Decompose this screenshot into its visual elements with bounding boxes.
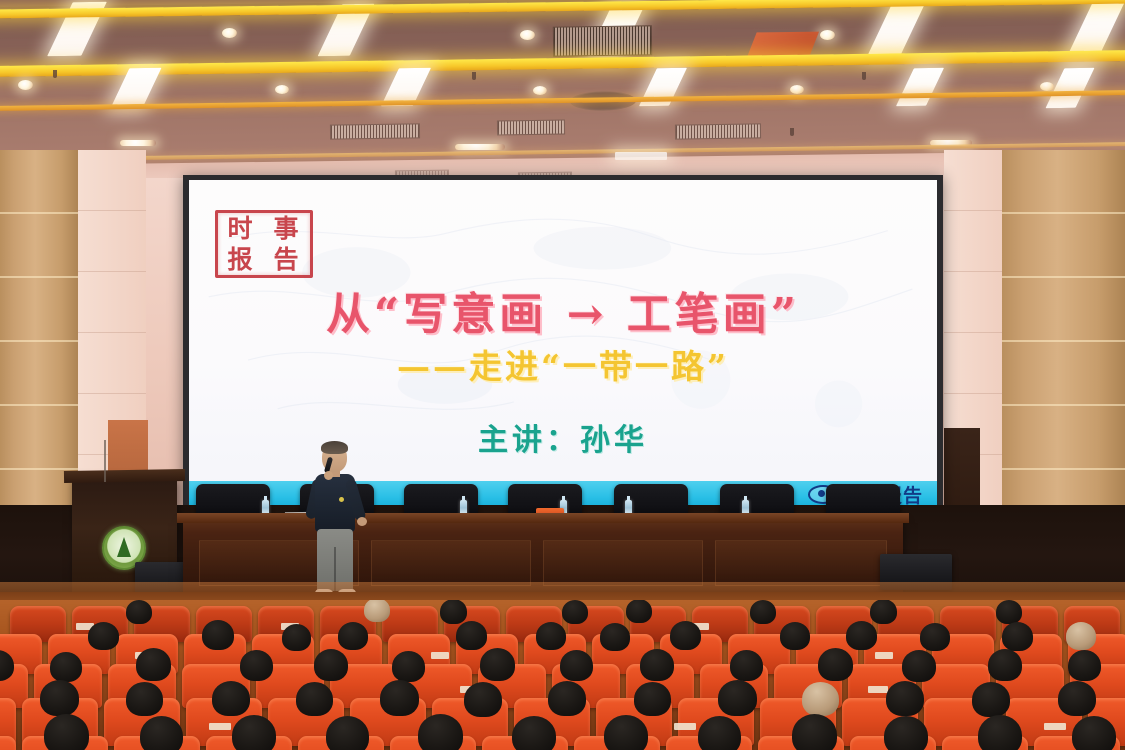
seat-number-plate <box>674 723 696 730</box>
ceiling-downlight <box>18 80 33 90</box>
audience-head <box>40 680 79 716</box>
ceiling-air-grille <box>675 123 761 139</box>
audience-head <box>698 716 741 750</box>
audience-head <box>392 651 425 682</box>
audience-head <box>792 714 837 750</box>
ceiling-red-panel <box>747 32 819 58</box>
presenter-badge-icon <box>339 497 344 502</box>
audience-head <box>988 649 1022 681</box>
audience-head <box>296 682 333 716</box>
presenter-right-hand <box>357 517 367 526</box>
table-front-panel <box>371 540 531 586</box>
sprinkler-head <box>862 72 866 80</box>
audience-head <box>418 714 463 750</box>
audience-head <box>886 681 924 716</box>
seal-char: 时 <box>218 215 264 242</box>
ceiling-downlight <box>120 140 156 146</box>
audience-head <box>560 650 593 681</box>
audience-head <box>44 714 89 750</box>
audience-head <box>126 600 152 624</box>
audience-head <box>730 650 763 681</box>
audience-head <box>456 621 487 650</box>
slide-subtitle: ——走进“一带一路” <box>189 340 937 388</box>
audience-head <box>978 715 1022 750</box>
audience-head <box>902 650 936 682</box>
seat-number-plate <box>868 686 888 693</box>
table-front-panel <box>543 540 703 586</box>
audience-head <box>972 682 1010 717</box>
seat-number-plate <box>431 652 449 659</box>
projection-screen: 时 事 报 告 从“写意画 → 工笔画” ——走进“一带一路” 主讲：孙华 时事… <box>189 180 937 511</box>
slide-title: 从“写意画 → 工笔画” <box>189 278 937 342</box>
audience-head <box>440 600 467 624</box>
auditorium-photo: 时 事 报 告 从“写意画 → 工笔画” ——走进“一带一路” 主讲：孙华 时事… <box>0 0 1125 750</box>
audience-head <box>1058 681 1096 716</box>
audience-head <box>480 648 515 681</box>
audience-head <box>870 600 897 624</box>
audience-head <box>314 649 348 681</box>
sprinkler-head <box>472 72 476 80</box>
seat-number-plate <box>209 723 231 730</box>
audience-head <box>512 716 556 750</box>
audience-head <box>802 682 839 716</box>
seat-number-plate <box>875 652 893 659</box>
presenter-left-hand <box>324 471 333 480</box>
ceiling-downlight <box>222 28 237 38</box>
ceiling-downlight <box>790 85 804 94</box>
audience-head <box>604 715 648 750</box>
audience-head <box>1066 622 1096 650</box>
audience-head <box>818 648 853 681</box>
audience-head <box>464 682 502 717</box>
ceiling-air-grille <box>497 120 565 136</box>
ceiling-air-grille <box>330 123 420 139</box>
head-table-top <box>177 513 909 523</box>
ceiling-downlight <box>820 30 835 40</box>
presenter-hair <box>321 441 348 454</box>
audience-head <box>634 682 671 716</box>
table-front-panel <box>715 540 887 586</box>
audience-head <box>88 622 119 650</box>
audience-head <box>126 682 163 716</box>
audience-head <box>1068 650 1101 681</box>
audience-head <box>326 716 369 750</box>
audience-seating <box>0 600 1125 750</box>
audience-head <box>626 600 652 623</box>
audience-head <box>780 622 810 650</box>
audience-head <box>884 716 928 750</box>
podium-microphone-icon <box>104 440 106 482</box>
audience-head <box>600 623 630 651</box>
audience-head <box>562 600 588 624</box>
audience-head <box>140 716 183 750</box>
audience-head <box>136 648 171 681</box>
audience-head <box>1072 716 1116 750</box>
seal-char: 告 <box>264 246 310 273</box>
audience-head <box>232 715 276 750</box>
audience-head <box>202 620 234 650</box>
audience-head <box>282 624 311 651</box>
audience-head <box>548 681 586 716</box>
ceiling-vent <box>553 25 652 56</box>
audience-head <box>670 621 701 650</box>
audience-head <box>212 681 250 716</box>
shishi-baogao-seal: 时 事 报 告 <box>215 210 313 278</box>
seal-char: 报 <box>218 246 264 273</box>
ceiling-light-panel <box>615 152 667 160</box>
audience-head <box>718 680 757 716</box>
ceiling-downlight <box>533 86 547 95</box>
ceiling-downlight <box>520 30 535 40</box>
audience-head <box>338 622 368 650</box>
sprinkler-head <box>53 70 57 78</box>
sprinkler-head <box>790 128 794 136</box>
audience-head <box>536 622 566 650</box>
auditorium-seat[interactable] <box>0 736 16 750</box>
seal-char: 事 <box>264 215 310 242</box>
ceiling-downlight <box>1040 82 1054 91</box>
audience-head <box>750 600 776 624</box>
slide-speaker-line: 主讲：孙华 <box>189 415 937 459</box>
seat-number-plate <box>1044 723 1066 730</box>
projection-screen-frame: 时 事 报 告 从“写意画 → 工笔画” ——走进“一带一路” 主讲：孙华 时事… <box>183 175 943 515</box>
audience-head <box>920 623 950 651</box>
podium-top <box>64 469 185 483</box>
audience-head <box>240 650 273 681</box>
audience-head <box>640 649 674 681</box>
audience-head <box>380 680 419 716</box>
audience-head <box>364 600 390 622</box>
ceiling-downlight <box>455 144 505 150</box>
audience-head <box>1002 622 1033 651</box>
ceiling-downlight <box>275 85 289 94</box>
audience-head <box>996 600 1022 624</box>
audience-head <box>846 621 877 650</box>
audience-head <box>50 652 82 682</box>
